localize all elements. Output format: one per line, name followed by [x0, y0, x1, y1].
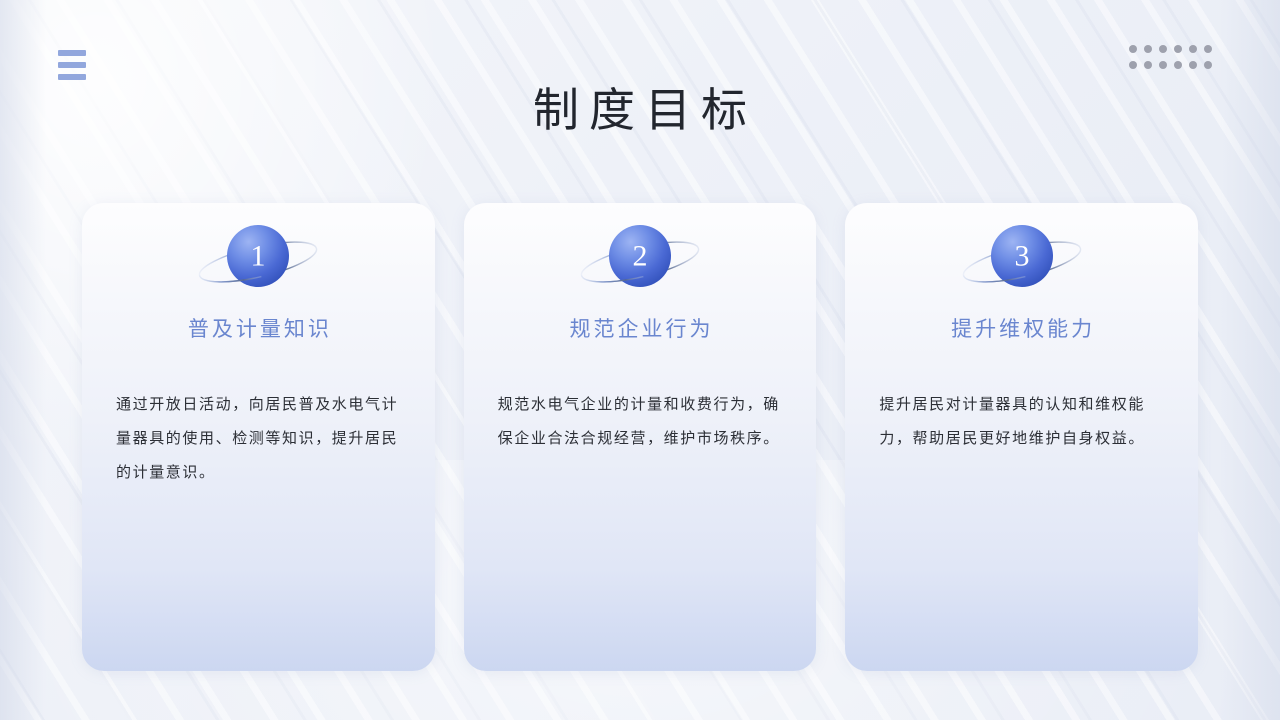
hamburger-bar-3 [58, 74, 86, 80]
dot-grid-dot [1144, 61, 1152, 69]
goal-card[interactable]: 2 规范企业行为 规范水电气企业的计量和收费行为，确保企业合法合规经营，维护市场… [464, 203, 817, 671]
card-body-text: 提升居民对计量器具的认知和维权能力，帮助居民更好地维护自身权益。 [879, 388, 1164, 456]
card-body-text: 规范水电气企业的计量和收费行为，确保企业合法合规经营，维护市场秩序。 [498, 388, 783, 456]
dot-grid-dot [1144, 45, 1152, 53]
dot-grid-decoration [1129, 45, 1212, 69]
slide-canvas: 制度目标 [0, 0, 1280, 720]
dot-grid-dot [1204, 61, 1212, 69]
card-body-text: 通过开放日活动，向居民普及水电气计量器具的使用、检测等知识，提升居民的计量意识。 [116, 388, 401, 490]
dot-grid-dot [1189, 45, 1197, 53]
planet-badge-icon: 3 [947, 215, 1097, 301]
dot-grid-dot [1174, 45, 1182, 53]
planet-badge-icon: 2 [565, 215, 715, 301]
dot-grid-dot [1159, 61, 1167, 69]
dot-grid-dot [1159, 45, 1167, 53]
planet-badge-icon: 1 [183, 215, 333, 301]
dot-grid-dot [1189, 61, 1197, 69]
hamburger-bar-2 [58, 62, 86, 68]
badge-number: 3 [1014, 240, 1029, 273]
dot-grid-dot [1129, 61, 1137, 69]
goal-card-list: 1 普及计量知识 通过开放日活动，向居民普及水电气计量器具的使用、检测等知识，提… [82, 203, 1198, 671]
goal-card[interactable]: 1 普及计量知识 通过开放日活动，向居民普及水电气计量器具的使用、检测等知识，提… [82, 203, 435, 671]
card-title: 普及计量知识 [116, 317, 401, 342]
hamburger-bar-1 [58, 50, 86, 56]
dot-grid-dot [1174, 61, 1182, 69]
card-title: 规范企业行为 [498, 317, 783, 342]
page-title: 制度目标 [0, 88, 1280, 134]
card-title: 提升维权能力 [879, 317, 1164, 342]
dot-grid-dot [1204, 45, 1212, 53]
badge-number: 1 [251, 240, 266, 273]
badge-number: 2 [633, 240, 648, 273]
dot-grid-dot [1129, 45, 1137, 53]
hamburger-menu-icon[interactable] [58, 50, 86, 80]
goal-card[interactable]: 3 提升维权能力 提升居民对计量器具的认知和维权能力，帮助居民更好地维护自身权益… [845, 203, 1198, 671]
